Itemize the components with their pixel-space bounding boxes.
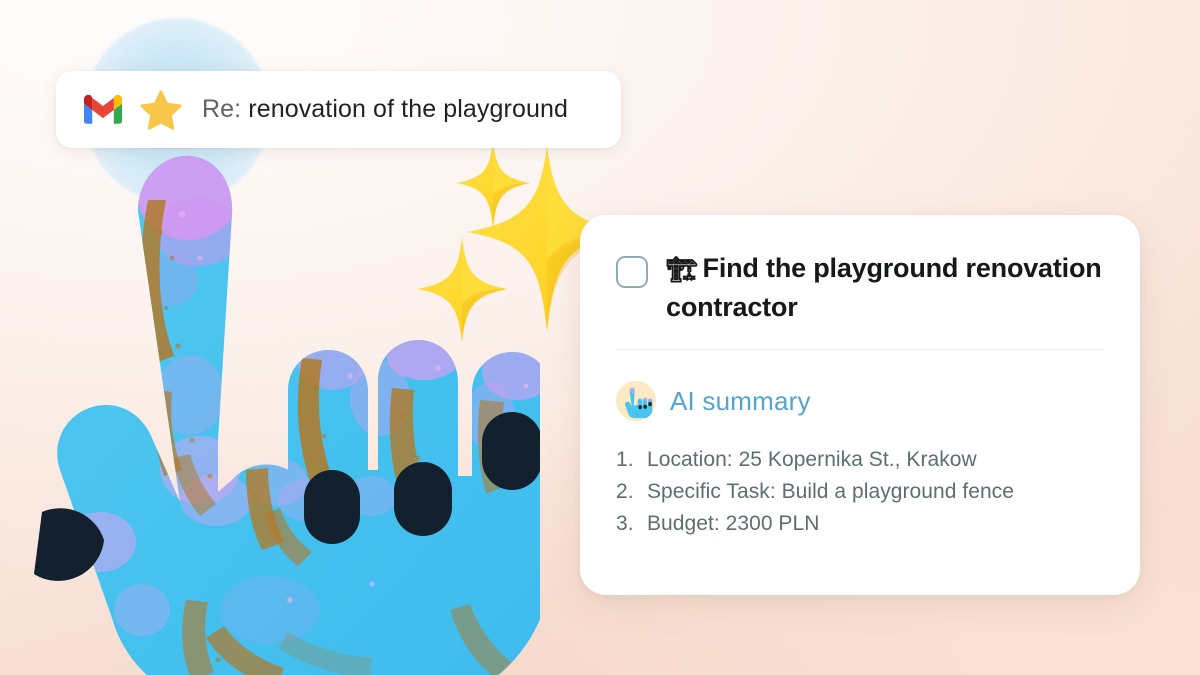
list-item: 2. Specific Task: Build a playground fen… <box>616 476 1104 508</box>
list-item-text: Specific Task: Build a playground fence <box>647 476 1014 508</box>
ai-summary-header: AI summary <box>616 381 1104 421</box>
list-item-text: Location: 25 Kopernika St., Krakow <box>647 444 977 476</box>
star-icon[interactable] <box>140 90 182 130</box>
task-title-text: Find the playground renovation contracto… <box>666 253 1102 322</box>
task-checkbox[interactable] <box>616 256 648 288</box>
card-divider <box>616 349 1104 350</box>
list-item: 1. Location: 25 Kopernika St., Krakow <box>616 444 1104 476</box>
gmail-icon <box>84 95 122 124</box>
list-item-text: Budget: 2300 PLN <box>647 508 819 540</box>
list-item-number: 1. <box>616 444 647 476</box>
email-notification-pill[interactable]: Re: renovation of the playground <box>56 71 621 148</box>
notification-text: Re: renovation of the playground <box>202 95 568 124</box>
sparkle-bottom-small <box>417 237 507 342</box>
list-item: 3. Budget: 2300 PLN <box>616 508 1104 540</box>
task-header-row: 🏗Find the playground renovation contract… <box>616 249 1104 327</box>
ai-avatar <box>616 381 656 421</box>
crane-icon: 🏗 <box>666 256 698 284</box>
notification-subject: renovation of the playground <box>248 95 568 123</box>
ai-summary-label: AI summary <box>670 386 811 417</box>
screenshot-stage: Re: renovation of the playground 🏗Find t… <box>0 0 1200 675</box>
list-item-number: 2. <box>616 476 647 508</box>
list-item-number: 3. <box>616 508 647 540</box>
task-title: 🏗Find the playground renovation contract… <box>666 249 1104 327</box>
task-card: 🏗Find the playground renovation contract… <box>580 215 1140 595</box>
ai-summary-list: 1. Location: 25 Kopernika St., Krakow 2.… <box>616 444 1104 540</box>
notification-prefix: Re: <box>202 95 241 123</box>
